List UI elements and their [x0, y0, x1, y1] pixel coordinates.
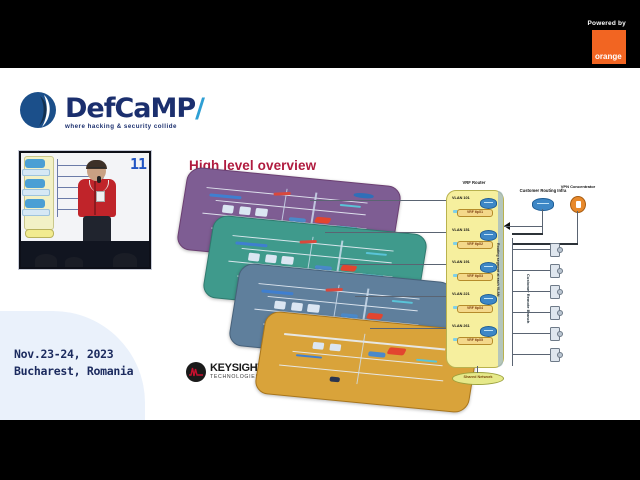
orange-logo-icon: orange [592, 30, 626, 64]
panel-to-vrf-link [310, 200, 446, 201]
shared-network-node: Shared Network [452, 372, 504, 385]
vpn-down [577, 211, 578, 243]
letterbox-top [0, 0, 640, 68]
vrf-pill: VRF ItpX4 [457, 305, 493, 313]
edge-spine [512, 238, 513, 366]
vrf-row: VLAN 261 VRF ItpX5 [451, 323, 499, 353]
panel-to-vrf-link [355, 296, 446, 297]
router-icon [480, 262, 497, 273]
event-info: Nov.23-24, 2023 Bucharest, Romania [14, 346, 133, 379]
vrf-pill: VRF ItpX2 [457, 241, 493, 249]
projected-node [25, 179, 45, 188]
vrf-row: VLAN 191 VRF ItpX3 [451, 259, 499, 289]
projected-shared-net [25, 229, 54, 238]
vlan-label: VLAN 191 [452, 260, 470, 264]
edge-device [550, 285, 561, 297]
powered-by-block: Powered by orange [588, 20, 626, 64]
brand-name: DefCaMP [65, 93, 195, 124]
vpn-concentrator-label: VPN Concentrator [552, 184, 604, 189]
panel-to-vrf-link [325, 232, 446, 233]
speaker-video-thumbnail[interactable]: 11 [18, 150, 152, 270]
stage-floor [21, 241, 149, 267]
router-icon [480, 326, 497, 337]
projected-caption [22, 209, 50, 216]
event-dates: Nov.23-24, 2023 [14, 346, 133, 363]
presenter-figure [75, 161, 121, 245]
orange-wordmark: orange [595, 52, 622, 61]
vrf-row: VLAN 221 VRF ItpX4 [451, 291, 499, 321]
cust-router-down [542, 209, 543, 233]
brand-slash: / [195, 93, 204, 124]
vpn-concentrator-icon [570, 196, 586, 213]
edge-device [550, 327, 561, 339]
screenshot-stage: DefCaMP/ where hacking & security collid… [0, 0, 640, 480]
projected-number: 11 [130, 155, 146, 173]
router-icon [480, 294, 497, 305]
vrf-label: VRF ItpX3 [458, 274, 492, 278]
router-icon [480, 230, 497, 241]
customer-router-icon [532, 198, 554, 211]
vrf-label: VRF ItpX5 [458, 338, 492, 342]
network-diagram: VRF Router Routing segment at each VLAN … [160, 176, 630, 408]
panel-to-vrf-link [340, 264, 446, 265]
vrf-label: VRF ItpX1 [458, 210, 492, 214]
powered-by-label: Powered by [588, 20, 626, 27]
shared-network-label: Shared Network [453, 375, 503, 379]
vlan-label: VLAN 151 [452, 228, 470, 232]
customer-edge-column: Customer Remote Branch [512, 238, 574, 366]
customer-branch-label: Customer Remote Branch [526, 274, 531, 323]
vrf-row: VLAN 101 VRF ItpX1 [451, 195, 499, 225]
vrf-pill: VRF ItpX1 [457, 209, 493, 217]
vrf-router-title: VRF Router [446, 180, 502, 185]
vlan-label: VLAN 261 [452, 324, 470, 328]
edge-device [550, 243, 561, 255]
vlan-label: VLAN 101 [452, 196, 470, 200]
vrf-row: VLAN 151 VRF ItpX2 [451, 227, 499, 257]
vrf-label: VRF ItpX2 [458, 242, 492, 246]
router-icon [480, 198, 497, 209]
panel-to-vrf-link [370, 328, 446, 329]
defcamp-swirl-logo-icon [18, 90, 58, 130]
letterbox-bottom [0, 420, 640, 480]
projected-slide: 11 [21, 153, 149, 241]
projected-caption [22, 169, 50, 176]
vrf-pill: VRF ItpX5 [457, 337, 493, 345]
projected-caption [22, 189, 50, 196]
projected-node [25, 159, 45, 168]
defcamp-wordmark: DefCaMP/ where hacking & security collid… [65, 95, 204, 130]
vrf-router-panel: Routing segment at each VLAN VLAN 101 VR… [446, 190, 504, 368]
panel-contents [268, 319, 465, 405]
brand-tagline: where hacking & security collide [65, 124, 204, 130]
edge-device [550, 306, 561, 318]
vrf-pill: VRF ItpX3 [457, 273, 493, 281]
defcamp-logo: DefCaMP/ where hacking & security collid… [18, 90, 204, 130]
vlan-label: VLAN 221 [452, 292, 470, 296]
edge-device [550, 348, 561, 360]
shared-net-link [477, 366, 478, 373]
vrf-label: VRF ItpX4 [458, 306, 492, 310]
event-location: Bucharest, Romania [14, 363, 133, 380]
projected-node [25, 199, 45, 208]
vrf-to-cust [504, 226, 542, 227]
cust-bus [512, 233, 543, 235]
slide-canvas: DefCaMP/ where hacking & security collid… [0, 68, 640, 420]
edge-device [550, 264, 561, 276]
